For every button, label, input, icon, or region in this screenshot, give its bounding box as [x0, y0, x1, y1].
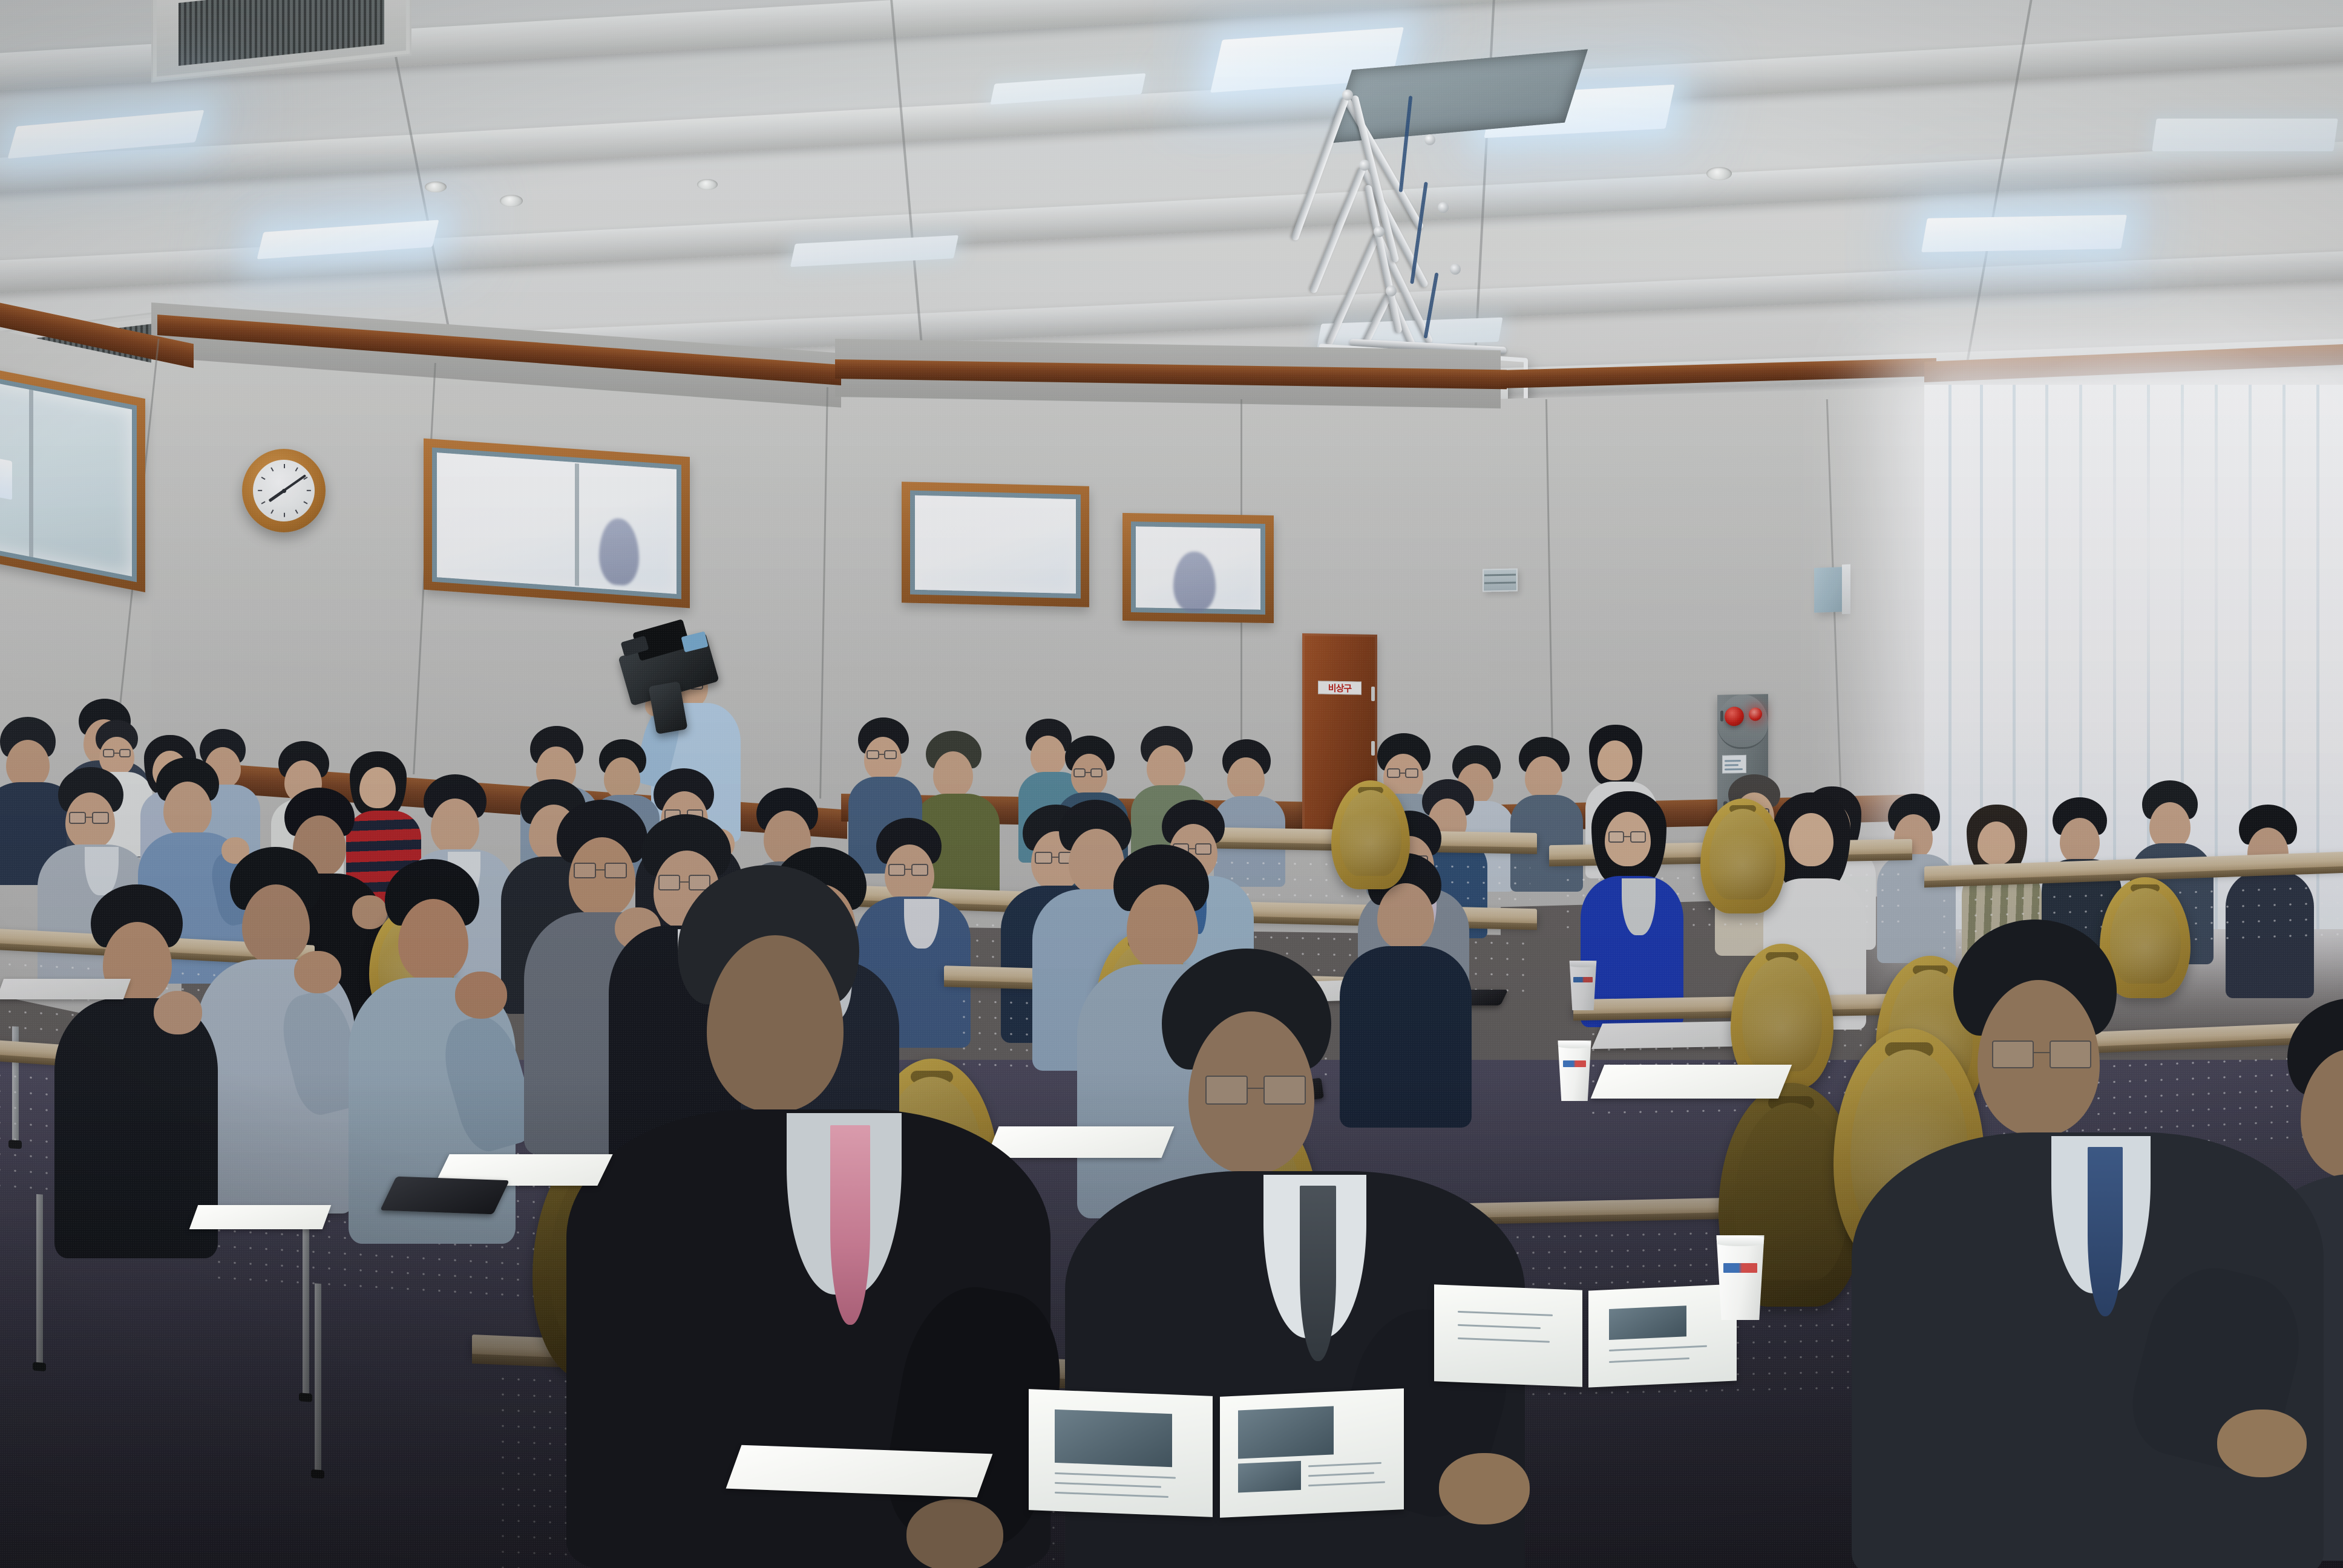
recessed-downlight: [1706, 167, 1732, 180]
window-glass: [915, 495, 1076, 594]
cup-logo: [1723, 1263, 1757, 1272]
cup-rim: [1566, 961, 1599, 967]
cup-logo: [1573, 977, 1592, 982]
window-back-wall-mid: [902, 482, 1089, 607]
ceiling-light-panel: [1921, 215, 2127, 252]
necktie: [1300, 1186, 1336, 1361]
cup-rim: [1711, 1235, 1770, 1246]
recessed-downlight: [425, 181, 447, 192]
banquet-chair[interactable]: [1700, 799, 1785, 913]
window-glass: [437, 452, 677, 594]
wall-clock: [242, 449, 326, 532]
fire-cabinet-slot: [1720, 711, 1723, 722]
window-mullion: [29, 390, 33, 557]
writing-hand: [1439, 1453, 1530, 1524]
glasses: [1205, 1076, 1306, 1105]
necktie: [830, 1125, 870, 1325]
paper-cup: [1712, 1235, 1768, 1320]
window-back-wall-large: [424, 439, 690, 609]
booklet-photo: [1239, 1406, 1334, 1459]
door-hinge: [1371, 687, 1375, 701]
navy-jacket: [1340, 946, 1472, 1128]
hand: [2217, 1410, 2307, 1477]
clock-face: [253, 460, 315, 521]
banquet-chair[interactable]: [1331, 780, 1410, 889]
loose-paper: [1591, 1065, 1792, 1099]
interior-view-window: [1122, 513, 1274, 623]
seminar-room-photo: 비상구: [0, 0, 2343, 1568]
cup-rim: [1554, 1040, 1595, 1048]
phone-on-desk: [380, 1177, 510, 1215]
video-camera: [620, 612, 735, 727]
speaker-bracket: [1842, 564, 1850, 614]
paper-cup: [1567, 961, 1599, 1010]
glasses: [1992, 1040, 2091, 1068]
loose-paper: [726, 1445, 993, 1498]
hand: [906, 1499, 1003, 1568]
loose-paper: [1591, 1021, 1743, 1049]
booklet-left-page: [1029, 1389, 1213, 1517]
open-booklet: [1029, 1393, 1404, 1514]
booklet-right-page: [1588, 1284, 1737, 1387]
wall-speaker: [1814, 567, 1844, 613]
fire-cabinet-label: [1722, 755, 1746, 774]
cup-logo: [1563, 1060, 1586, 1067]
recessed-downlight: [697, 179, 718, 190]
wall-air-vent: [1483, 568, 1518, 592]
exit-door-sign-text: 비상구: [1328, 681, 1351, 694]
loose-paper: [0, 979, 131, 999]
window-left-wall: [0, 364, 145, 592]
window-glass: [0, 379, 132, 577]
booklet-photo: [1239, 1461, 1301, 1493]
booklet-left-page: [1434, 1284, 1582, 1387]
clock-center-pin: [282, 489, 286, 493]
glasses: [69, 812, 109, 824]
loose-paper: [189, 1205, 332, 1229]
ac-grill: [179, 0, 384, 66]
window-blind-slat: [1948, 385, 1951, 929]
necktie: [2088, 1147, 2123, 1316]
clock-minute-hand: [283, 474, 306, 492]
booklet-right-page: [1220, 1388, 1404, 1518]
projector-scissor-lift: [1331, 79, 1585, 381]
ceiling-light-panel: [2152, 119, 2338, 151]
booklet-photo: [1609, 1305, 1686, 1340]
open-booklet: [1434, 1287, 1737, 1384]
exit-door-sign: 비상구: [1318, 681, 1362, 694]
loose-paper: [986, 1126, 1174, 1158]
window-mullion: [575, 463, 579, 586]
fire-cabinet-head: [1717, 694, 1768, 749]
booklet-photo: [1055, 1410, 1172, 1467]
paper-cup: [1555, 1040, 1594, 1101]
reflected-ceiling-light: [0, 456, 12, 500]
recessed-downlight: [500, 195, 523, 207]
door-hinge: [1371, 741, 1375, 756]
glasses: [658, 875, 710, 890]
